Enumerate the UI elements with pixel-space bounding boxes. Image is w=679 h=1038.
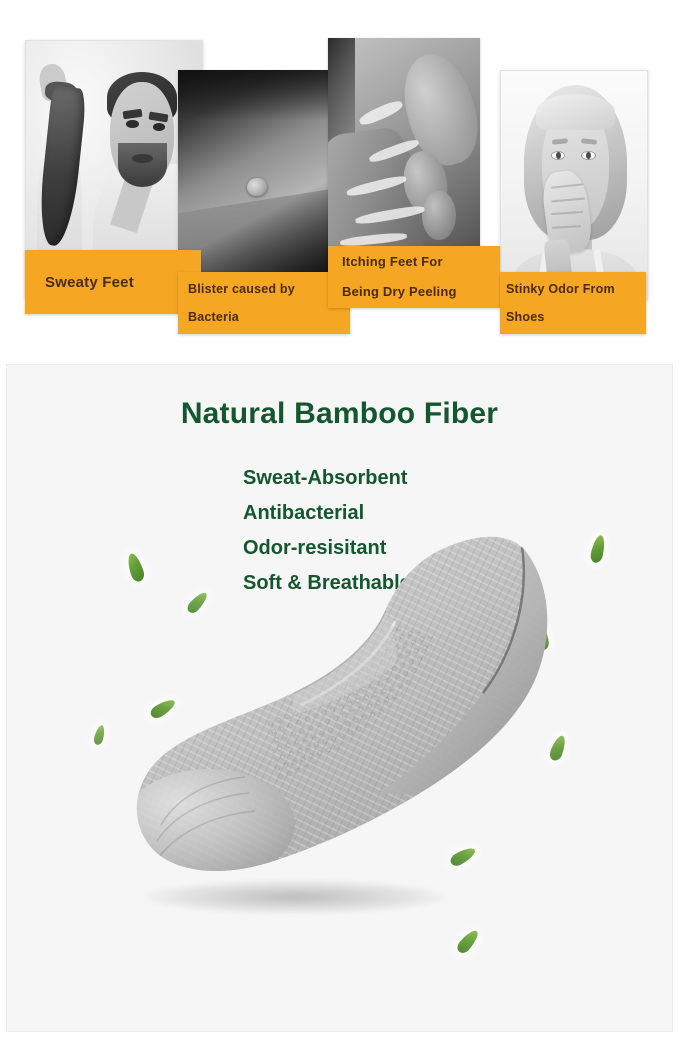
bamboo-leaf-icon bbox=[93, 724, 107, 746]
sock-product-image bbox=[117, 525, 587, 955]
product-infographic: Sweaty Feet Blister caused by Bacteria I… bbox=[0, 0, 679, 1038]
benefit-item: Sweat-Absorbent bbox=[243, 461, 411, 496]
caption-line: Blister caused by bbox=[188, 275, 350, 303]
feature-heading: Natural Bamboo Fiber bbox=[7, 397, 672, 431]
bamboo-leaf-icon bbox=[589, 534, 607, 564]
caption-line: Stinky Odor From bbox=[506, 275, 646, 303]
caption-line: Shoes bbox=[506, 303, 646, 331]
caption-itching-feet: Itching Feet For Being Dry Peeling bbox=[328, 246, 500, 308]
caption-blister: Blister caused by Bacteria bbox=[178, 272, 350, 334]
caption-sweaty-feet: Sweaty Feet bbox=[25, 250, 201, 314]
problem-card-stinky-odor bbox=[500, 70, 648, 300]
problem-photos-panel: Sweaty Feet Blister caused by Bacteria I… bbox=[0, 0, 679, 362]
caption-line: Itching Feet For bbox=[342, 247, 500, 277]
stinky-odor-photo bbox=[501, 71, 647, 299]
caption-line: Bacteria bbox=[188, 303, 350, 331]
sock-drop-shadow bbox=[145, 880, 445, 914]
feature-panel: Natural Bamboo Fiber Sweat-Absorbent Ant… bbox=[6, 364, 673, 1032]
caption-line: Being Dry Peeling bbox=[342, 277, 500, 307]
caption-stinky-odor: Stinky Odor From Shoes bbox=[500, 272, 646, 334]
